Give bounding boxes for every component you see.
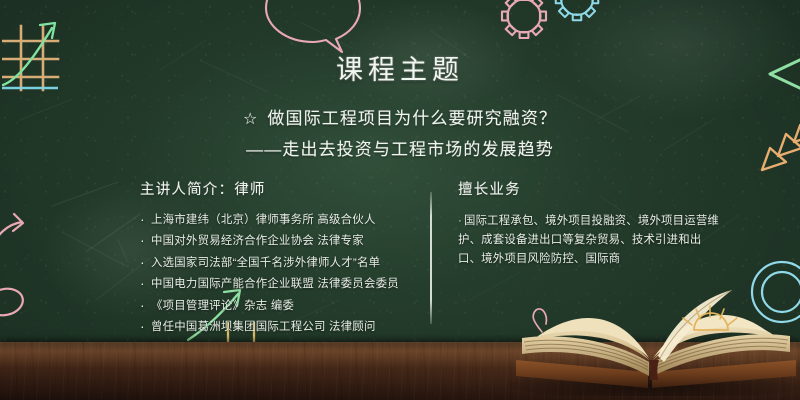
gear-cyan-doodle: [548, 0, 606, 28]
expertise-body-text: 国际工程承包、境外项目投融资、境外项目运营维护、成套设备进出口等复杂贸易、技术引…: [458, 215, 719, 265]
list-item: 曾任中国葛洲坝集团国际工程公司 法律顾问: [140, 319, 418, 335]
expertise-heading: 擅长业务: [458, 178, 720, 199]
gear-pink-doodle: [494, 0, 554, 46]
expertise-body: ·国际工程承包、境外项目投融资、境外项目运营维护、成套设备进出口等复杂贸易、技术…: [458, 212, 720, 269]
list-item: 中国对外贸易经济合作企业协会 法律专家: [140, 233, 418, 249]
subtitle-line-2: ——走出去投资与工程市场的发展趋势: [0, 135, 800, 160]
wooden-desk: [0, 342, 800, 400]
subtitle-line-1: ☆做国际工程项目为什么要研究融资？: [0, 104, 800, 129]
arrow-pink-doodle: [0, 212, 40, 258]
speaker-profile-heading: 主讲人简介：律师: [140, 178, 418, 199]
speaker-bullet-list: 上海市建纬（北京）律师事务所 高级合伙人 中国对外贸易经济合作企业协会 法律专家…: [140, 212, 418, 335]
slide-canvas: 课程主题 ☆做国际工程项目为什么要研究融资？ ——走出去投资与工程市场的发展趋势…: [0, 0, 800, 400]
star-outline-icon: ☆: [243, 109, 258, 129]
column-divider: [430, 192, 432, 324]
expertise-column: 擅长业务 ·国际工程承包、境外项目投融资、境外项目运营维护、成套设备进出口等复杂…: [458, 178, 720, 269]
desk-wood-grain-2: [0, 342, 800, 400]
list-item: 中国电力国际产能合作企业联盟 法律委员会委员: [140, 276, 418, 292]
subtitle-line-1-text: 做国际工程项目为什么要研究融资？: [267, 109, 557, 128]
expertise-bullet-marker: ·: [458, 215, 462, 227]
page-title: 课程主题: [0, 48, 800, 87]
speech-bubble-doodle: [258, 0, 368, 54]
oval-pink-doodle: [0, 284, 26, 320]
list-item: 《项目管理评论》杂志 编委: [140, 298, 418, 314]
list-item: 上海市建纬（北京）律师事务所 高级合伙人: [140, 212, 418, 228]
speaker-profile-column: 主讲人简介：律师 上海市建纬（北京）律师事务所 高级合伙人 中国对外贸易经济合作…: [140, 178, 418, 340]
concentric-circles-cyan-doodle: [742, 258, 800, 332]
list-item: 入选国家司法部“全国千名涉外律师人才”名单: [140, 255, 418, 271]
